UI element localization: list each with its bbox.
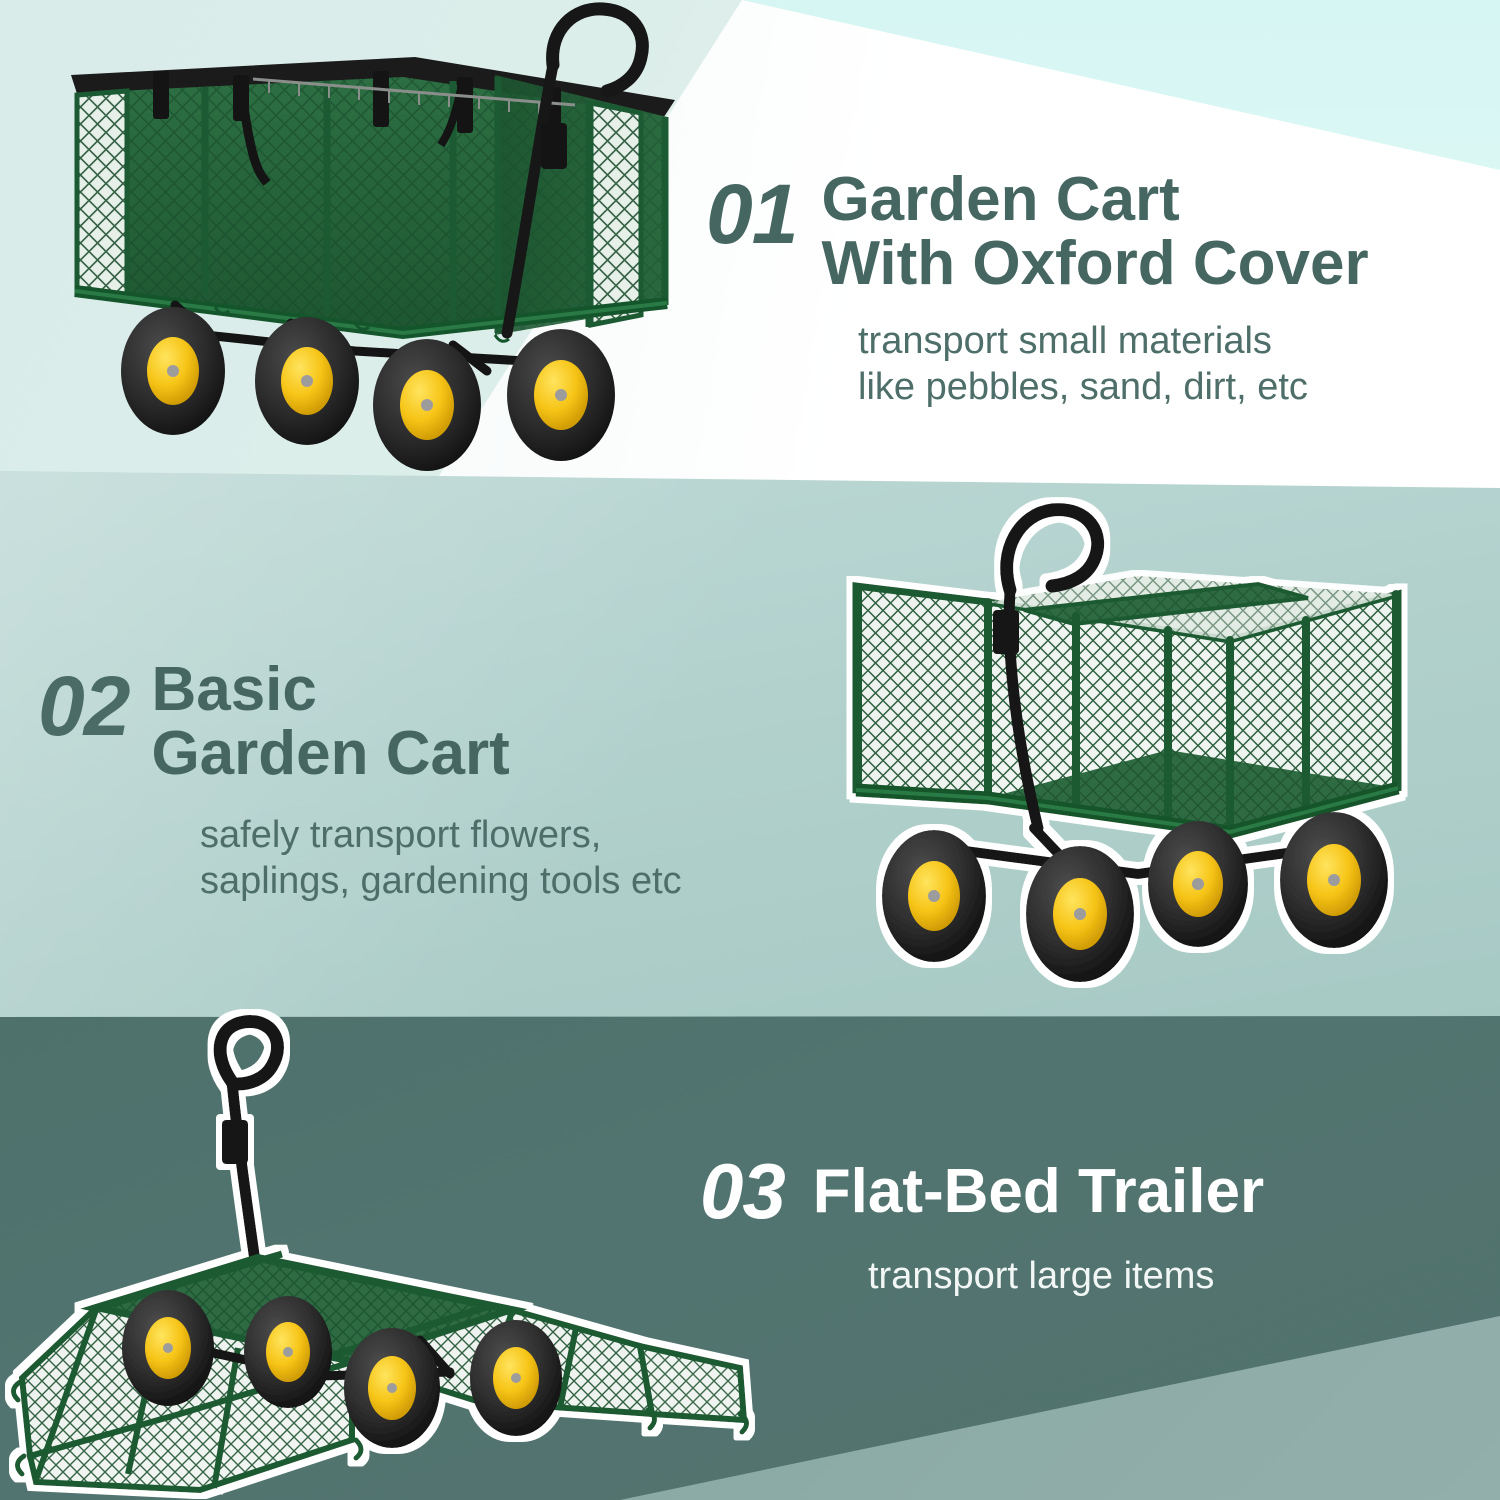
section-01-heading-row: 01 Garden Cart With Oxford Cover: [706, 168, 1369, 297]
section-02-subtitle-line-1: safely transport flowers,: [200, 813, 682, 859]
section-03-heading-row: 03 Flat-Bed Trailer: [700, 1156, 1264, 1228]
section-01-text-block: 01 Garden Cart With Oxford Cover transpo…: [706, 168, 1369, 410]
section-03-text-block: 03 Flat-Bed Trailer transport large item…: [700, 1156, 1264, 1299]
section-02-subtitle-line-2: saplings, gardening tools etc: [200, 859, 682, 905]
section-01-title-line-1: Garden Cart: [821, 168, 1368, 232]
flat-bed-trailer-photo: [0, 1010, 760, 1500]
section-03-number: 03: [700, 1156, 785, 1228]
section-02-heading-row: 02 Basic Garden Cart: [38, 658, 682, 787]
section-01-subtitle: transport small materials like pebbles, …: [858, 319, 1369, 410]
section-01-title: Garden Cart With Oxford Cover: [821, 168, 1368, 297]
section-03-title: Flat-Bed Trailer: [813, 1160, 1264, 1224]
section-02-text-block: 02 Basic Garden Cart safely transport fl…: [38, 658, 682, 904]
section-02-subtitle: safely transport flowers, saplings, gard…: [200, 813, 682, 904]
section-02-title-line-1: Basic: [151, 658, 509, 722]
section-01-subtitle-line-1: transport small materials: [858, 319, 1369, 365]
section-01-number: 01: [706, 168, 797, 253]
section-02-number: 02: [38, 658, 129, 745]
infographic-canvas: 01 Garden Cart With Oxford Cover transpo…: [0, 0, 1500, 1500]
section-02-title-line-2: Garden Cart: [151, 722, 509, 786]
section-01-title-line-2: With Oxford Cover: [821, 232, 1368, 296]
section-03-subtitle-line-1: transport large items: [868, 1254, 1264, 1300]
section-02-title: Basic Garden Cart: [151, 658, 509, 787]
basic-garden-cart-photo: [838, 498, 1478, 1018]
section-03-title-line-1: Flat-Bed Trailer: [813, 1160, 1264, 1224]
garden-cart-with-oxford-cover-photo: [55, 5, 715, 475]
section-01-subtitle-line-2: like pebbles, sand, dirt, etc: [858, 365, 1369, 411]
section-03-subtitle: transport large items: [868, 1254, 1264, 1300]
